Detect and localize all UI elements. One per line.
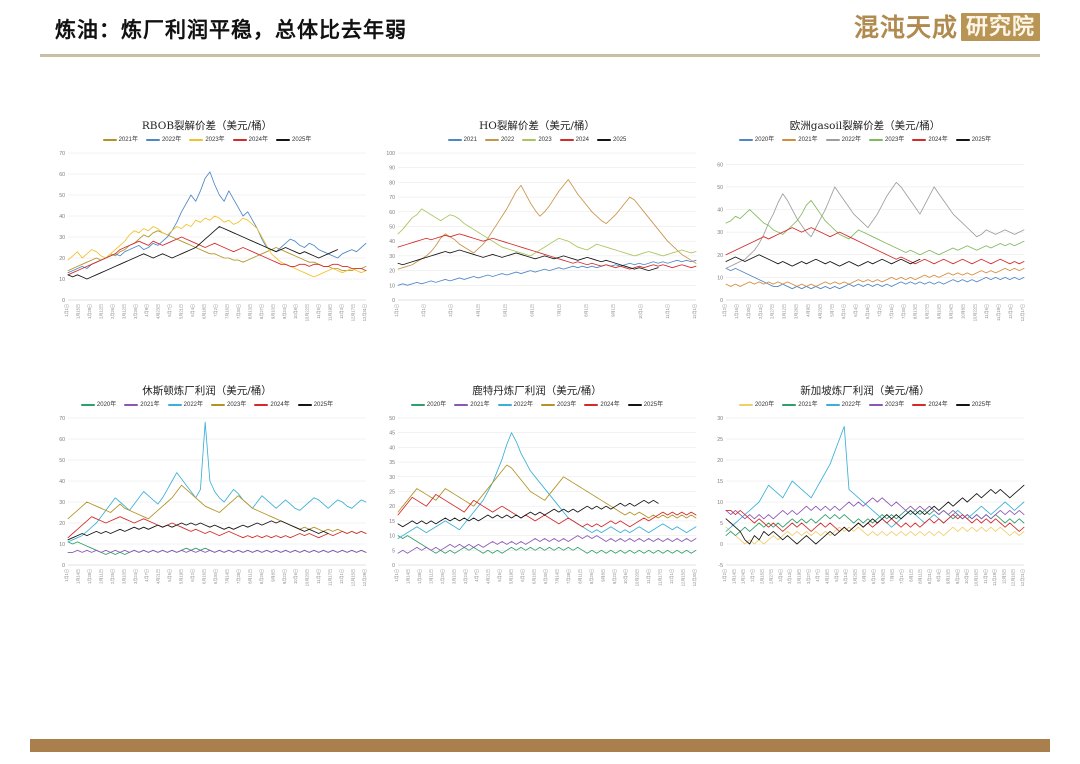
x-axis-tick-label: 7月6日 bbox=[890, 569, 895, 582]
x-axis-tick-label: 2月25日 bbox=[110, 569, 115, 584]
x-axis-tick-label: 6月18日 bbox=[202, 304, 207, 319]
y-axis-tick-label: 20 bbox=[59, 256, 65, 262]
legend-swatch-icon bbox=[254, 404, 268, 407]
x-axis-tick-label: 5月14日 bbox=[843, 569, 848, 584]
x-axis-tick-label: 2月7日 bbox=[750, 569, 755, 582]
legend-swatch-icon bbox=[411, 404, 425, 407]
y-axis-tick-label: 45 bbox=[389, 431, 395, 437]
x-axis-tick-label: 8月11日 bbox=[918, 569, 923, 584]
x-axis-tick-label: 12月30日 bbox=[692, 569, 697, 586]
legend-item: 2025年 bbox=[956, 136, 991, 144]
y-axis-tick-label: 20 bbox=[59, 521, 65, 527]
y-axis-tick-label: 10 bbox=[389, 283, 395, 289]
x-axis-tick-label: 11月17日 bbox=[658, 569, 663, 586]
y-axis-tick-label: 30 bbox=[717, 416, 723, 422]
y-axis-tick-label: 50 bbox=[59, 458, 65, 464]
legend-label: 2021年 bbox=[119, 136, 138, 144]
legend-label: 2020年 bbox=[755, 401, 774, 409]
slide-header: 炼油：炼厂利润平稳，总体比去年弱 混沌天成 研究院 bbox=[0, 0, 1080, 58]
y-axis-tick-label: 50 bbox=[389, 416, 395, 422]
legend-item: 2025年 bbox=[276, 136, 311, 144]
x-axis-tick-label: 5月19日 bbox=[509, 569, 514, 584]
x-axis-tick-label: 3月19日 bbox=[797, 569, 802, 584]
y-axis-tick-label: 30 bbox=[59, 235, 65, 241]
legend-item: 2023 bbox=[522, 136, 551, 144]
legend-item: 2022年 bbox=[498, 401, 533, 409]
legend-label: 2022年 bbox=[842, 136, 861, 144]
series-line bbox=[726, 182, 1024, 268]
legend-swatch-icon bbox=[826, 139, 840, 142]
x-axis-tick-label: 7月2日 bbox=[213, 304, 218, 317]
x-axis-tick-label: 9月10日 bbox=[270, 304, 275, 319]
chart-legend: 2020年2021年2022年2023年2024年2025年 bbox=[372, 399, 702, 411]
y-axis-tick-label: 40 bbox=[389, 239, 395, 245]
legend-label: 2023年 bbox=[557, 401, 576, 409]
chart-title: 鹿特丹炼厂利润（美元/桶） bbox=[372, 385, 702, 397]
x-axis-tick-label: 1月2日 bbox=[722, 304, 727, 317]
x-axis-tick-label: 10月20日 bbox=[305, 569, 310, 586]
chart-panel-eu-gasoil-crack: 欧洲gasoil裂解价差（美元/桶） 2020年2021年2022年2023年2… bbox=[700, 120, 1030, 380]
x-axis-tick-label: 5月21日 bbox=[179, 304, 184, 319]
x-axis-tick-label: 11月17日 bbox=[328, 569, 333, 586]
x-axis-tick-label: 12月16日 bbox=[1011, 569, 1016, 586]
x-axis-tick-label: 6月30日 bbox=[543, 569, 548, 584]
x-axis-tick-label: 12月29日 bbox=[362, 569, 367, 586]
legend-swatch-icon bbox=[485, 139, 499, 142]
legend-swatch-icon bbox=[522, 139, 536, 142]
x-axis-tick-label: 3月13日 bbox=[787, 569, 792, 584]
chart-svg: -50510152025301月2日1月14日1月24日2月7日2月15日2月2… bbox=[700, 412, 1030, 617]
x-axis-tick-label: 11月19日 bbox=[996, 304, 1001, 321]
x-axis-tick-label: 4月7日 bbox=[144, 569, 149, 582]
x-axis-tick-label: 10月1日 bbox=[638, 304, 643, 319]
x-axis-tick-label: 4月9日 bbox=[805, 304, 810, 317]
x-axis-tick-label: 11月5日 bbox=[984, 304, 989, 319]
x-axis-tick-label: 6月16日 bbox=[202, 569, 207, 584]
series-line bbox=[398, 500, 658, 526]
y-axis-tick-label: 60 bbox=[389, 210, 395, 216]
x-axis-tick-label: 11月1日 bbox=[665, 304, 670, 319]
legend-swatch-icon bbox=[168, 404, 182, 407]
x-axis-tick-label: 9月1日 bbox=[611, 304, 616, 317]
y-axis-tick-label: 70 bbox=[59, 151, 65, 157]
x-axis-tick-label: 12月17日 bbox=[1020, 304, 1025, 321]
chart-title: 欧洲gasoil裂解价差（美元/桶） bbox=[700, 120, 1030, 132]
x-axis-tick-label: 8月11日 bbox=[247, 569, 252, 584]
x-axis-tick-label: 1月14日 bbox=[731, 569, 736, 584]
y-axis-tick-label: 10 bbox=[389, 534, 395, 540]
legend-swatch-icon bbox=[869, 139, 883, 142]
x-axis-tick-label: 3月26日 bbox=[133, 304, 138, 319]
series-line bbox=[398, 250, 658, 271]
x-axis-tick-label: 9月8日 bbox=[270, 569, 275, 582]
legend-swatch-icon bbox=[233, 139, 247, 142]
x-axis-tick-label: 7月16日 bbox=[889, 304, 894, 319]
x-axis-tick-label: 1月1日 bbox=[394, 569, 399, 582]
x-axis-tick-label: 3月24日 bbox=[463, 569, 468, 584]
y-axis-tick-label: 10 bbox=[717, 275, 723, 281]
legend-swatch-icon bbox=[628, 404, 642, 407]
x-axis-tick-label: 3月1日 bbox=[448, 304, 453, 317]
x-axis-tick-label: 7月2日 bbox=[877, 304, 882, 317]
x-axis-tick-label: 12月3日 bbox=[339, 304, 344, 319]
chart-plot: 01020304050601月2日1月16日1月30日2月13日2月27日3月1… bbox=[700, 147, 1030, 352]
x-axis-tick-label: 3月12日 bbox=[782, 304, 787, 319]
x-axis-tick-label: 2月12日 bbox=[98, 304, 103, 319]
series-line bbox=[398, 494, 696, 526]
x-axis-tick-label: 3月24日 bbox=[133, 569, 138, 584]
x-axis-tick-label: 9月25日 bbox=[955, 569, 960, 584]
page-title: 炼油：炼厂利润平稳，总体比去年弱 bbox=[55, 14, 407, 44]
series-line bbox=[726, 527, 1024, 544]
series-line bbox=[726, 200, 1024, 254]
x-axis-tick-label: 8月13日 bbox=[247, 304, 252, 319]
legend-swatch-icon bbox=[956, 404, 970, 407]
chart-legend: 2020年2021年2022年2023年2024年2025年 bbox=[700, 399, 1030, 411]
legend-item: 2021年 bbox=[124, 401, 159, 409]
y-axis-tick-label: 5 bbox=[392, 548, 395, 554]
legend-swatch-icon bbox=[454, 404, 468, 407]
x-axis-tick-label: 8月13日 bbox=[913, 304, 918, 319]
x-axis-tick-label: 6月2日 bbox=[520, 569, 525, 582]
x-axis-tick-label: 10月6日 bbox=[623, 569, 628, 584]
legend-item: 2024年 bbox=[912, 401, 947, 409]
x-axis-tick-label: 3月10日 bbox=[121, 569, 126, 584]
chart-legend: 2020年2021年2022年2023年2024年2025年 bbox=[700, 134, 1030, 146]
chart-panel-rbob-crack: RBOB裂解价差（美元/桶） 2021年2022年2023年2024年2025年… bbox=[42, 120, 372, 380]
y-axis-tick-label: 40 bbox=[59, 479, 65, 485]
chart-panel-houston-margin: 休斯顿炼厂利润（美元/桶） 2020年2021年2022年2023年2024年2… bbox=[42, 385, 372, 645]
legend-label: 2025 bbox=[613, 136, 626, 144]
legend-swatch-icon bbox=[912, 139, 926, 142]
legend-label: 2023年 bbox=[227, 401, 246, 409]
chart-title: 休斯顿炼厂利润（美元/桶） bbox=[42, 385, 372, 397]
legend-swatch-icon bbox=[541, 404, 555, 407]
legend-item: 2025年 bbox=[956, 401, 991, 409]
x-axis-tick-label: 6月26日 bbox=[880, 569, 885, 584]
x-axis-tick-label: 3月5日 bbox=[778, 569, 783, 582]
x-axis-tick-label: 1月1日 bbox=[64, 304, 69, 317]
x-axis-tick-label: 10月8日 bbox=[293, 304, 298, 319]
chart-svg: 0102030405060701月1日1月14日1月28日2月11日2月25日3… bbox=[42, 412, 372, 617]
y-axis-tick-label: 20 bbox=[717, 458, 723, 464]
legend-label: 2021年 bbox=[140, 401, 159, 409]
x-axis-tick-label: 7月30日 bbox=[901, 304, 906, 319]
legend-item: 2025年 bbox=[298, 401, 333, 409]
legend-label: 2024年 bbox=[928, 136, 947, 144]
x-axis-tick-label: 1月28日 bbox=[87, 569, 92, 584]
legend-item: 2020年 bbox=[739, 136, 774, 144]
x-axis-tick-label: 4月21日 bbox=[486, 569, 491, 584]
legend-label: 2023 bbox=[538, 136, 551, 144]
x-axis-tick-label: 12月21日 bbox=[1020, 569, 1025, 586]
legend-swatch-icon bbox=[912, 404, 926, 407]
x-axis-tick-label: 8月1日 bbox=[584, 304, 589, 317]
x-axis-tick-label: 12月5日 bbox=[1001, 569, 1006, 584]
chart-grid: RBOB裂解价差（美元/桶） 2021年2022年2023年2024年2025年… bbox=[0, 110, 1080, 670]
x-axis-tick-label: 12月1日 bbox=[339, 569, 344, 584]
legend-item: 2023年 bbox=[541, 401, 576, 409]
legend-label: 2020年 bbox=[97, 401, 116, 409]
slide-root: 炼油：炼厂利润平稳，总体比去年弱 混沌天成 研究院 RBOB裂解价差（美元/桶）… bbox=[0, 0, 1080, 764]
legend-label: 2023年 bbox=[205, 136, 224, 144]
x-axis-tick-label: 1月30日 bbox=[746, 304, 751, 319]
x-axis-tick-label: 2月11日 bbox=[98, 569, 103, 584]
y-axis-tick-label: 60 bbox=[59, 437, 65, 443]
x-axis-tick-label: 1月14日 bbox=[405, 569, 410, 584]
x-axis-tick-label: 1月24日 bbox=[741, 569, 746, 584]
x-axis-tick-label: 1月14日 bbox=[75, 569, 80, 584]
legend-item: 2025年 bbox=[628, 401, 663, 409]
x-axis-tick-label: 5月5日 bbox=[834, 569, 839, 582]
legend-item: 2021年 bbox=[454, 401, 489, 409]
legend-item: 2023年 bbox=[211, 401, 246, 409]
legend-swatch-icon bbox=[560, 139, 574, 142]
legend-item: 2021年 bbox=[782, 136, 817, 144]
x-axis-tick-label: 5月21日 bbox=[841, 304, 846, 319]
legend-label: 2022年 bbox=[184, 401, 203, 409]
series-line bbox=[68, 550, 366, 552]
x-axis-tick-label: 1月15日 bbox=[75, 304, 80, 319]
legend-label: 2023年 bbox=[885, 401, 904, 409]
x-axis-tick-label: 11月5日 bbox=[316, 304, 321, 319]
chart-plot: 051015202530354045501月1日1月14日1月28日2月11日2… bbox=[372, 412, 702, 617]
legend-swatch-icon bbox=[826, 404, 840, 407]
x-axis-tick-label: 4月1日 bbox=[475, 304, 480, 317]
x-axis-tick-label: 1月29日 bbox=[87, 304, 92, 319]
legend-label: 2022年 bbox=[842, 401, 861, 409]
y-axis-tick-label: 15 bbox=[717, 479, 723, 485]
series-line bbox=[398, 536, 696, 554]
legend-label: 2024年 bbox=[270, 401, 289, 409]
legend-label: 2021年 bbox=[798, 401, 817, 409]
x-axis-tick-label: 10月6日 bbox=[293, 569, 298, 584]
y-axis-tick-label: 15 bbox=[389, 519, 395, 525]
x-axis-tick-label: 5月19日 bbox=[179, 569, 184, 584]
series-line bbox=[68, 422, 366, 542]
y-axis-tick-label: 5 bbox=[720, 521, 723, 527]
chart-plot: 0102030405060701月1日1月14日1月28日2月11日2月25日3… bbox=[42, 412, 372, 617]
x-axis-tick-label: 5月7日 bbox=[829, 304, 834, 317]
x-axis-tick-label: 2月25日 bbox=[440, 569, 445, 584]
x-axis-tick-label: 1月1日 bbox=[394, 304, 399, 317]
x-axis-tick-label: 2月11日 bbox=[428, 569, 433, 584]
x-axis-tick-label: 2月27日 bbox=[770, 304, 775, 319]
legend-item: 2022 bbox=[485, 136, 514, 144]
legend-item: 2024年 bbox=[233, 136, 268, 144]
x-axis-tick-label: 8月11日 bbox=[577, 569, 582, 584]
x-axis-tick-label: 6月2日 bbox=[190, 569, 195, 582]
x-axis-tick-label: 2月27日 bbox=[769, 569, 774, 584]
legend-item: 2022年 bbox=[146, 136, 181, 144]
x-axis-tick-label: 5月7日 bbox=[167, 304, 172, 317]
x-axis-tick-label: 3月12日 bbox=[121, 304, 126, 319]
legend-label: 2025年 bbox=[314, 401, 333, 409]
chart-legend: 2020年2021年2022年2023年2024年2025年 bbox=[42, 399, 372, 411]
x-axis-tick-label: 1月16日 bbox=[734, 304, 739, 319]
chart-svg: 0102030405060701月1日1月15日1月29日2月12日2月26日3… bbox=[42, 147, 372, 352]
legend-item: 2022年 bbox=[826, 401, 861, 409]
x-axis-tick-label: 5月5日 bbox=[497, 569, 502, 582]
legend-swatch-icon bbox=[211, 404, 225, 407]
chart-plot: -50510152025301月2日1月14日1月24日2月7日2月15日2月2… bbox=[700, 412, 1030, 617]
chart-legend: 20212022202320242025 bbox=[372, 134, 702, 146]
chart-panel-singapore-margin: 新加坡炼厂利润（美元/桶） 2020年2021年2022年2023年2024年2… bbox=[700, 385, 1030, 645]
y-axis-tick-label: 30 bbox=[717, 230, 723, 236]
x-axis-tick-label: 7月28日 bbox=[236, 569, 241, 584]
legend-item: 2023年 bbox=[869, 136, 904, 144]
y-axis-tick-label: 100 bbox=[386, 151, 395, 157]
x-axis-tick-label: 9月13日 bbox=[946, 569, 951, 584]
legend-item: 2024年 bbox=[584, 401, 619, 409]
series-line bbox=[398, 234, 696, 269]
y-axis-tick-label: 0 bbox=[720, 542, 723, 548]
legend-item: 2024年 bbox=[254, 401, 289, 409]
x-axis-tick-label: 1月2日 bbox=[722, 569, 727, 582]
y-axis-tick-label: 0 bbox=[392, 563, 395, 569]
x-axis-tick-label: 4月23日 bbox=[156, 304, 161, 319]
x-axis-tick-label: 5月1日 bbox=[502, 304, 507, 317]
legend-label: 2020年 bbox=[427, 401, 446, 409]
x-axis-tick-label: 2月1日 bbox=[421, 304, 426, 317]
chart-plot: 0102030405060701月1日1月15日1月29日2月12日2月26日3… bbox=[42, 147, 372, 352]
x-axis-tick-label: 10月20日 bbox=[635, 569, 640, 586]
legend-label: 2025年 bbox=[292, 136, 311, 144]
x-axis-tick-label: 2月13日 bbox=[758, 304, 763, 319]
x-axis-tick-label: 9月10日 bbox=[937, 304, 942, 319]
series-line bbox=[398, 433, 696, 539]
x-axis-tick-label: 4月7日 bbox=[815, 569, 820, 582]
x-axis-tick-label: 6月15日 bbox=[871, 569, 876, 584]
legend-swatch-icon bbox=[956, 139, 970, 142]
legend-item: 2020年 bbox=[81, 401, 116, 409]
x-axis-tick-label: 9月8日 bbox=[600, 569, 605, 582]
x-axis-tick-label: 4月19日 bbox=[824, 569, 829, 584]
y-axis-tick-label: 10 bbox=[717, 500, 723, 506]
series-line bbox=[68, 227, 338, 280]
x-axis-tick-label: 7月1日 bbox=[557, 304, 562, 317]
legend-item: 2020年 bbox=[739, 401, 774, 409]
series-line bbox=[398, 209, 696, 256]
x-axis-tick-label: 4月21日 bbox=[156, 569, 161, 584]
x-axis-tick-label: 5月5日 bbox=[167, 569, 172, 582]
y-axis-tick-label: 40 bbox=[389, 445, 395, 451]
y-axis-tick-label: 25 bbox=[717, 437, 723, 443]
y-axis-tick-label: 70 bbox=[59, 416, 65, 422]
legend-swatch-icon bbox=[124, 404, 138, 407]
x-axis-tick-label: 12月15日 bbox=[351, 569, 356, 586]
x-axis-tick-label: 9月4日 bbox=[936, 569, 941, 582]
x-axis-tick-label: 7月14日 bbox=[224, 569, 229, 584]
y-axis-tick-label: 35 bbox=[389, 460, 395, 466]
x-axis-tick-label: 8月1日 bbox=[908, 569, 913, 582]
chart-svg: 051015202530354045501月1日1月14日1月28日2月11日2… bbox=[372, 412, 702, 617]
x-axis-tick-label: 8月21日 bbox=[927, 569, 932, 584]
series-line bbox=[726, 228, 1024, 264]
series-line bbox=[68, 517, 366, 538]
legend-swatch-icon bbox=[597, 139, 611, 142]
legend-label: 2021年 bbox=[798, 136, 817, 144]
y-axis-tick-label: 40 bbox=[717, 208, 723, 214]
chart-legend: 2021年2022年2023年2024年2025年 bbox=[42, 134, 372, 146]
x-axis-tick-label: 3月26日 bbox=[794, 304, 799, 319]
y-axis-tick-label: 50 bbox=[389, 225, 395, 231]
legend-item: 2023年 bbox=[869, 401, 904, 409]
chart-panel-ho-crack: HO裂解价差（美元/桶） 20212022202320242025 010203… bbox=[372, 120, 702, 380]
x-axis-tick-label: 7月16日 bbox=[224, 304, 229, 319]
legend-item: 2023年 bbox=[189, 136, 224, 144]
legend-item: 2022年 bbox=[826, 136, 861, 144]
x-axis-tick-label: 6月4日 bbox=[190, 304, 195, 317]
y-axis-tick-label: 20 bbox=[389, 504, 395, 510]
legend-label: 2022年 bbox=[162, 136, 181, 144]
x-axis-tick-label: 6月18日 bbox=[865, 304, 870, 319]
legend-label: 2021 bbox=[464, 136, 477, 144]
legend-label: 2024 bbox=[576, 136, 589, 144]
y-axis-tick-label: 60 bbox=[59, 172, 65, 178]
x-axis-tick-label: 8月25日 bbox=[589, 569, 594, 584]
y-axis-tick-label: 20 bbox=[389, 269, 395, 275]
series-line bbox=[726, 485, 1024, 544]
series-line bbox=[726, 426, 1024, 531]
x-axis-tick-label: 11月19日 bbox=[992, 569, 997, 586]
series-line bbox=[398, 260, 696, 285]
x-axis-tick-label: 6月30日 bbox=[213, 569, 218, 584]
x-axis-tick-label: 4月23日 bbox=[817, 304, 822, 319]
chart-panel-rotterdam-margin: 鹿特丹炼厂利润（美元/桶） 2020年2021年2022年2023年2024年2… bbox=[372, 385, 702, 645]
x-axis-tick-label: 7月30日 bbox=[236, 304, 241, 319]
legend-label: 2025年 bbox=[972, 401, 991, 409]
x-axis-tick-label: 12月3日 bbox=[1008, 304, 1013, 319]
x-axis-tick-label: 2月15日 bbox=[759, 569, 764, 584]
x-axis-tick-label: 10月6日 bbox=[964, 569, 969, 584]
header-divider bbox=[40, 54, 1040, 57]
chart-svg: 01020304050601月2日1月16日1月30日2月13日2月27日3月1… bbox=[700, 147, 1030, 352]
x-axis-tick-label: 12月15日 bbox=[681, 569, 686, 586]
legend-label: 2023年 bbox=[885, 136, 904, 144]
y-axis-tick-label: 50 bbox=[59, 193, 65, 199]
legend-swatch-icon bbox=[103, 139, 117, 142]
legend-item: 2024年 bbox=[912, 136, 947, 144]
x-axis-tick-label: 1月1日 bbox=[64, 569, 69, 582]
legend-label: 2025年 bbox=[972, 136, 991, 144]
x-axis-tick-label: 9月22日 bbox=[282, 569, 287, 584]
y-axis-tick-label: 40 bbox=[59, 214, 65, 220]
legend-swatch-icon bbox=[146, 139, 160, 142]
y-axis-tick-label: 50 bbox=[717, 185, 723, 191]
y-axis-tick-label: 0 bbox=[392, 298, 395, 304]
legend-item: 2022年 bbox=[168, 401, 203, 409]
series-line bbox=[68, 172, 366, 273]
x-axis-tick-label: 6月1日 bbox=[529, 304, 534, 317]
company-logo: 混沌天成 研究院 bbox=[854, 8, 1040, 46]
y-axis-tick-label: 30 bbox=[59, 500, 65, 506]
x-axis-tick-label: 4月9日 bbox=[144, 304, 149, 317]
x-axis-tick-label: 6月16日 bbox=[532, 569, 537, 584]
chart-svg: 01020304050607080901001月1日2月1日3月1日4月1日5月… bbox=[372, 147, 702, 352]
y-axis-tick-label: 30 bbox=[389, 475, 395, 481]
y-axis-tick-label: 10 bbox=[59, 542, 65, 548]
x-axis-tick-label: 11月5日 bbox=[983, 569, 988, 584]
x-axis-tick-label: 10月22日 bbox=[305, 304, 310, 321]
y-axis-tick-label: 0 bbox=[62, 563, 65, 569]
legend-swatch-icon bbox=[782, 139, 796, 142]
x-axis-tick-label: 12月1日 bbox=[669, 569, 674, 584]
y-axis-tick-label: -5 bbox=[718, 563, 723, 569]
y-axis-tick-label: 20 bbox=[717, 253, 723, 259]
x-axis-tick-label: 8月27日 bbox=[259, 304, 264, 319]
x-axis-tick-label: 11月3日 bbox=[316, 569, 321, 584]
